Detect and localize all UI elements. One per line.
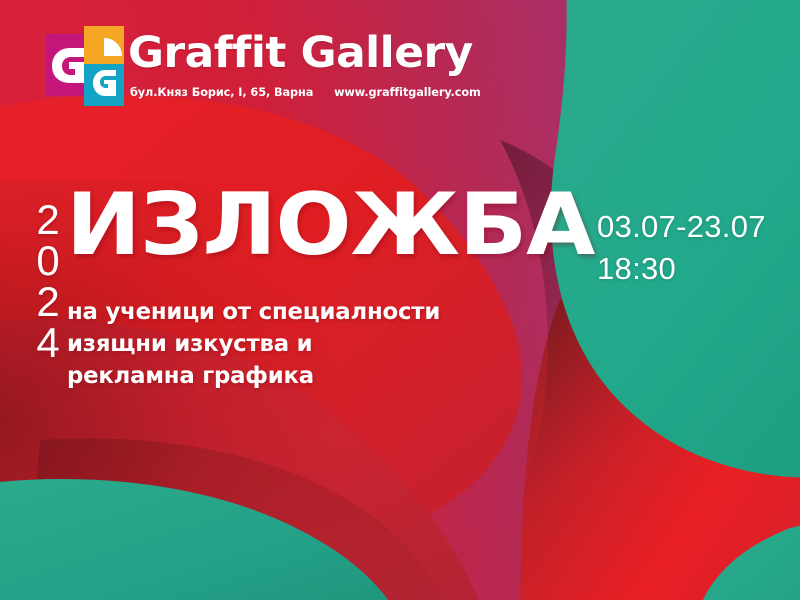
logo-wordmark: Graffit Gallery — [128, 32, 473, 75]
year-digit-1: 2 — [36, 199, 59, 240]
logo-website-text: www.graffitgallery.com — [334, 86, 481, 99]
logo-letter-g-small — [93, 70, 116, 96]
logo-address-text: бул.Княз Борис, I, 65, Варна — [130, 86, 313, 99]
year-digit-4: 4 — [36, 322, 59, 363]
poster-canvas: Graffit Gallery бул.Княз Борис, I, 65, В… — [0, 0, 800, 600]
logo-address-line: бул.Княз Борис, I, 65, Варна www.graffit… — [130, 86, 481, 99]
subhead-line-3: рекламна графика — [67, 360, 440, 392]
graffit-gallery-logo-mark — [44, 26, 128, 112]
logo-lockup[interactable]: Graffit Gallery бул.Княз Борис, I, 65, В… — [44, 24, 444, 116]
year-digit-2: 0 — [36, 240, 59, 281]
subhead-line-1: на ученици от специалности — [67, 296, 440, 328]
year-rail: 2 0 2 4 — [31, 199, 65, 364]
year-digit-3: 2 — [36, 281, 59, 322]
event-date-range: 03.07-23.07 — [597, 206, 766, 248]
subhead-line-2: изящни изкуства и — [67, 328, 440, 360]
event-date-block: 03.07-23.07 18:30 — [597, 206, 766, 289]
event-time: 18:30 — [597, 248, 766, 290]
event-subhead: на ученици от специалности изящни изкуст… — [67, 296, 440, 392]
event-headline: ИЗЛОЖБА — [66, 186, 594, 266]
